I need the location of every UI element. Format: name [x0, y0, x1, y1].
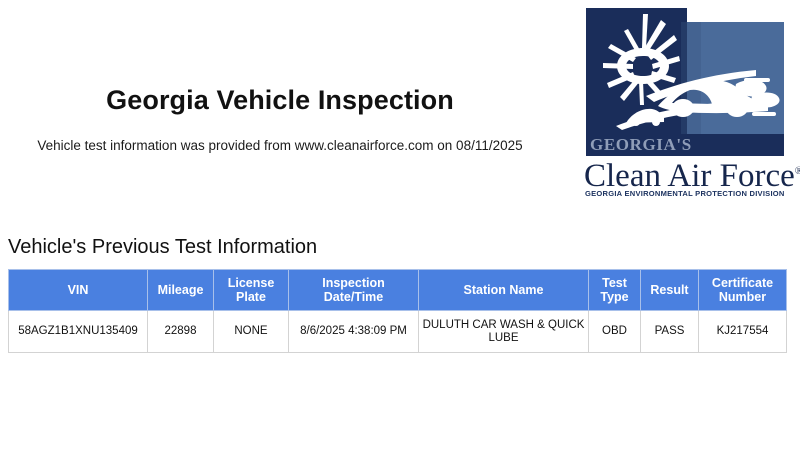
logo-georgias-text: GEORGIA'S — [590, 135, 692, 155]
logo-tagline-text: GEORGIA ENVIRONMENTAL PROTECTION DIVISIO… — [585, 189, 789, 198]
registered-trademark-icon: ® — [795, 165, 800, 177]
cell-result: PASS — [641, 311, 699, 353]
table-row: 58AGZ1B1XNU135409 22898 NONE 8/6/2025 4:… — [9, 311, 787, 353]
column-header-station-name: Station Name — [419, 270, 589, 311]
cell-test-type: OBD — [589, 311, 641, 353]
column-header-vin: VIN — [9, 270, 148, 311]
clean-air-force-logo: GEORGIA'S Clean Air Force® GEORGIA ENVIR… — [578, 8, 792, 200]
column-header-result: Result — [641, 270, 699, 311]
cell-vin: 58AGZ1B1XNU135409 — [9, 311, 148, 353]
column-header-inspection-datetime: Inspection Date/Time — [289, 270, 419, 311]
cell-station-name: DULUTH CAR WASH & QUICK LUBE — [419, 311, 589, 353]
column-header-mileage: Mileage — [148, 270, 214, 311]
page-title: Georgia Vehicle Inspection — [0, 85, 560, 116]
sun-and-car-emblem-icon — [586, 8, 784, 136]
cell-inspection-datetime: 8/6/2025 4:38:09 PM — [289, 311, 419, 353]
cell-mileage: 22898 — [148, 311, 214, 353]
column-header-test-type: Test Type — [589, 270, 641, 311]
previous-test-information-table: VIN Mileage License Plate Inspection Dat… — [8, 269, 787, 353]
column-header-license-plate: License Plate — [214, 270, 289, 311]
column-header-certificate-number: Certificate Number — [699, 270, 787, 311]
cell-license-plate: NONE — [214, 311, 289, 353]
logo-clean-air-force-text: Clean Air Force® — [584, 154, 800, 193]
cell-certificate-number: KJ217554 — [699, 311, 787, 353]
table-header-row: VIN Mileage License Plate Inspection Dat… — [9, 270, 787, 311]
section-heading: Vehicle's Previous Test Information — [8, 236, 317, 259]
page-header: Georgia Vehicle Inspection Vehicle test … — [0, 0, 800, 210]
page-subtitle: Vehicle test information was provided fr… — [0, 138, 560, 153]
